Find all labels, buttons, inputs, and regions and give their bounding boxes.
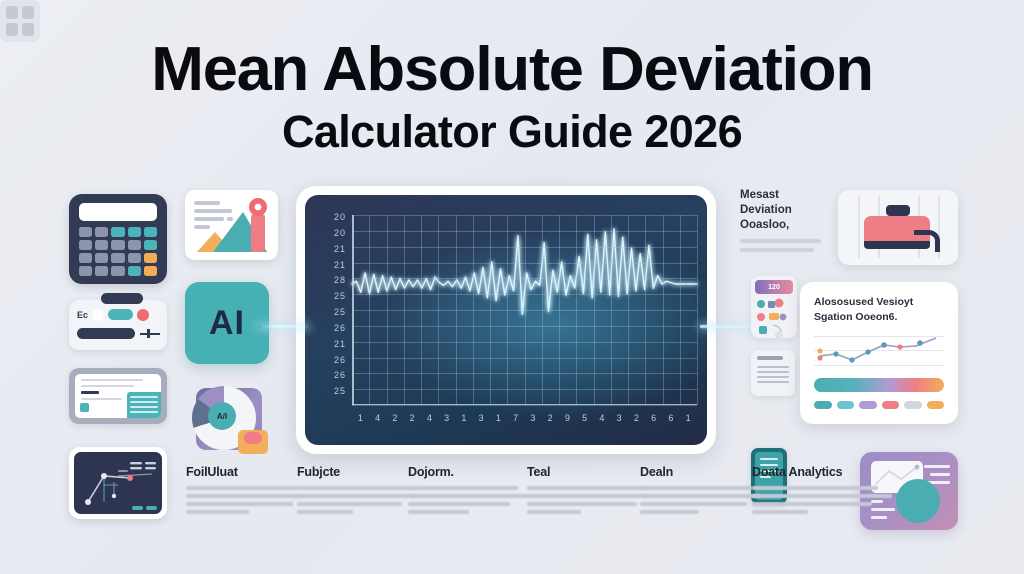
right-heading-block: Mesast Deviation Ooasloo, (740, 188, 824, 252)
calculator-key[interactable] (95, 227, 108, 237)
grid-line-horizontal (352, 389, 697, 390)
document-teal-panel (127, 392, 161, 418)
x-axis-tick-label: 2 (392, 413, 398, 423)
caption-body (640, 486, 762, 514)
y-axis-tick-label: 26 (334, 323, 346, 333)
caption-block: Teal (527, 465, 649, 518)
mini-document-card[interactable] (751, 350, 795, 396)
caption-heading: Doata Analytics (752, 465, 892, 479)
calculator-key[interactable] (144, 266, 157, 276)
caption-heading: Fubjcte (297, 465, 419, 479)
y-axis-tick-label: 25 (334, 386, 346, 396)
analytics-line (814, 334, 944, 368)
document-badge-icon (80, 403, 89, 412)
grid-line-horizontal (352, 373, 697, 374)
x-axis-tick-label: 4 (599, 413, 605, 423)
caption-block: FoilUluat (186, 465, 308, 518)
analytics-chip (904, 401, 922, 409)
grid-cell (6, 23, 18, 36)
panel-slider-row (77, 328, 159, 339)
bar-chart-card[interactable] (185, 190, 278, 260)
document-card[interactable] (69, 368, 167, 424)
toggle-switch[interactable] (108, 309, 133, 320)
caption-body-line (640, 510, 699, 514)
panel-label: Ec (77, 310, 88, 320)
calculator-key[interactable] (79, 253, 92, 263)
calculator-key[interactable] (144, 240, 157, 250)
caption-body-line (640, 502, 747, 506)
caption-body-line (527, 510, 581, 514)
caption-body-line (297, 510, 353, 514)
caption-block: Dealn (640, 465, 762, 518)
x-axis-tick-label: 1 (496, 413, 502, 423)
analytics-summary-card[interactable]: Alososused Vesioyt Sgation Ooeon6. (800, 282, 958, 424)
caption-body-line (408, 502, 510, 506)
document-paper (75, 374, 161, 418)
caption-block: Dojorm. (408, 465, 530, 518)
grid-line-horizontal (352, 294, 697, 295)
caption-heading: Dojorm. (408, 465, 530, 479)
y-axis-tick-label: 20 (334, 212, 346, 222)
document-text-line (81, 398, 122, 400)
analytics-chip (927, 401, 945, 409)
ai-label: AI (209, 304, 245, 343)
x-axis-tick-label: 7 (513, 413, 519, 423)
caption-body (186, 486, 308, 514)
connector-beam-left (258, 325, 308, 328)
grid-line-horizontal (352, 405, 697, 406)
toggle-knob[interactable] (92, 309, 104, 321)
grid-line-horizontal (352, 247, 697, 248)
grid-line-horizontal (352, 231, 697, 232)
doc-heading-line (757, 356, 783, 360)
chart-screen: 2020212128252526212626251422431317329543… (305, 195, 707, 445)
chart-plot-area: 2020212128252526212626251422431317329543… (352, 215, 697, 405)
progress-bar[interactable] (77, 328, 135, 339)
caption-body-line (297, 486, 412, 490)
caption-body-line (408, 510, 469, 514)
caption-body-line (297, 494, 419, 498)
analytics-gradient-bar (814, 378, 944, 392)
grid-line-vertical (697, 215, 698, 405)
y-axis-tick-label: 25 (334, 307, 346, 317)
caption-block: Doata Analytics (752, 465, 892, 518)
x-axis-tick-label: 3 (479, 413, 485, 423)
y-axis-tick-label: 26 (334, 370, 346, 380)
y-axis-tick-label: 28 (334, 275, 346, 285)
caption-body (527, 486, 649, 514)
calculator-key[interactable] (79, 240, 92, 250)
panel-controls-row: Ec (77, 307, 159, 322)
x-axis-tick-label: 9 (565, 413, 571, 423)
dark-chart-inner (74, 452, 162, 514)
x-axis-tick-label: 2 (410, 413, 416, 423)
y-axis-tick-label: 25 (334, 291, 346, 301)
control-panel-icon[interactable]: Ec (69, 300, 167, 350)
purple-text-line (924, 465, 950, 468)
x-axis-tick-label: 4 (375, 413, 381, 423)
calculator-display (79, 203, 157, 221)
y-axis-tick-label: 21 (334, 339, 346, 349)
analytics-chip-row (814, 401, 944, 409)
caption-body-line (186, 510, 249, 514)
calculator-key[interactable] (111, 266, 124, 276)
record-button-icon[interactable] (137, 309, 149, 321)
right-body-line (740, 239, 821, 243)
caption-body-line (752, 494, 892, 498)
caption-body-line (752, 502, 872, 506)
grid-cell (22, 6, 34, 19)
x-axis-tick-label: 2 (634, 413, 640, 423)
x-axis-tick-label: 2 (548, 413, 554, 423)
x-axis-tick-label: 6 (668, 413, 674, 423)
grid-line-horizontal (352, 358, 697, 359)
x-axis-tick-label: 5 (582, 413, 588, 423)
caption-body-line (527, 486, 644, 490)
caption-body-line (408, 486, 518, 490)
calculator-key[interactable] (144, 227, 157, 237)
x-axis-tick-label: 3 (444, 413, 450, 423)
dark-chart-card[interactable] (69, 447, 167, 519)
mini-grid-card[interactable] (0, 0, 40, 42)
y-axis-tick-label: 20 (334, 228, 346, 238)
caption-heading: FoilUluat (186, 465, 308, 479)
caption-heading: Dealn (640, 465, 762, 479)
briefcase-icon-card[interactable] (838, 190, 958, 265)
donut-center-label: A/I (208, 402, 236, 430)
calculator-icon[interactable] (69, 194, 167, 284)
calculator-key[interactable] (95, 266, 108, 276)
calculator-keypad (79, 227, 157, 276)
caption-body-line (640, 486, 752, 490)
caption-body (297, 486, 419, 514)
caption-body (408, 486, 530, 514)
caption-block: Fubjcte (297, 465, 419, 518)
calculator-key[interactable] (111, 240, 124, 250)
decor-line (858, 196, 860, 258)
caption-body-line (297, 502, 402, 506)
caption-heading: Teal (527, 465, 649, 479)
ai-badge-box[interactable]: AI (185, 282, 269, 364)
x-axis-tick-label: 3 (530, 413, 536, 423)
calculator-key[interactable] (79, 227, 92, 237)
donut-chart-card[interactable]: A/I (190, 384, 270, 458)
briefcase-handle-icon (886, 205, 910, 216)
calculator-key[interactable] (95, 253, 108, 263)
analytics-chip (837, 401, 855, 409)
right-body-line (740, 248, 814, 252)
document-heading-line (81, 391, 99, 394)
y-axis-tick-label: 26 (334, 355, 346, 365)
donut-pink-shape (244, 432, 262, 444)
calculator-key[interactable] (128, 227, 141, 237)
x-axis-tick-label: 3 (617, 413, 623, 423)
page-title: Mean Absolute Deviation Calculator Guide… (0, 38, 1024, 158)
x-axis-tick-label: 1 (461, 413, 467, 423)
caption-body-line (527, 502, 637, 506)
calculator-key[interactable] (128, 266, 141, 276)
caption-body-line (186, 494, 308, 498)
grid-line-horizontal (352, 263, 697, 264)
grid-line-horizontal (352, 310, 697, 311)
document-text-line (81, 379, 143, 381)
x-axis-tick-label: 1 (686, 413, 692, 423)
slider-icon[interactable] (140, 328, 159, 339)
briefcase-hook-icon (914, 230, 940, 252)
x-axis-tick-label: 4 (427, 413, 433, 423)
shapes-graphic (755, 297, 793, 339)
y-axis-tick-label: 21 (334, 260, 346, 270)
caption-body-line (640, 494, 762, 498)
grid-line-horizontal (352, 326, 697, 327)
grid-line-horizontal (352, 278, 697, 279)
analytics-chip (882, 401, 900, 409)
calculator-key[interactable] (128, 240, 141, 250)
title-line-2: Calculator Guide 2026 (0, 107, 1024, 157)
caption-body-line (752, 486, 878, 490)
title-line-1: Mean Absolute Deviation (0, 38, 1024, 101)
grid-cell (22, 23, 34, 36)
badge-label: 120 (755, 280, 793, 294)
calculator-key[interactable] (79, 266, 92, 276)
panel-tab (101, 293, 143, 304)
calculator-key[interactable] (111, 253, 124, 263)
colorful-shapes-card[interactable]: 120 (751, 276, 797, 338)
analytics-chip (859, 401, 877, 409)
grid-line-horizontal (352, 342, 697, 343)
grid-cell (6, 6, 18, 19)
caption-body-line (527, 494, 649, 498)
purple-text-line (930, 473, 950, 476)
calculator-key[interactable] (95, 240, 108, 250)
analytics-chip (814, 401, 832, 409)
x-axis-tick-label: 1 (358, 413, 364, 423)
waveform-chart-panel[interactable]: 2020212128252526212626251422431317329543… (296, 186, 716, 454)
y-axis-tick-label: 21 (334, 244, 346, 254)
right-heading-text: Mesast Deviation Ooasloo, (740, 188, 824, 234)
purple-accent-circle (896, 479, 940, 523)
caption-body (752, 486, 892, 514)
mini-line-chart (74, 452, 162, 514)
analytics-mini-chart (814, 334, 944, 368)
caption-body-line (186, 486, 298, 490)
mountain-chart-graphic (185, 190, 278, 260)
grid-line-horizontal (352, 215, 697, 216)
caption-body-line (186, 502, 293, 506)
analytics-heading: Alososused Vesioyt Sgation Ooeon6. (814, 295, 944, 324)
caption-body-line (408, 494, 530, 498)
calculator-key[interactable] (111, 227, 124, 237)
calculator-key[interactable] (128, 253, 141, 263)
caption-body-line (752, 510, 808, 514)
document-text-line (81, 385, 134, 387)
calculator-key[interactable] (144, 253, 157, 263)
x-axis-tick-label: 6 (651, 413, 657, 423)
